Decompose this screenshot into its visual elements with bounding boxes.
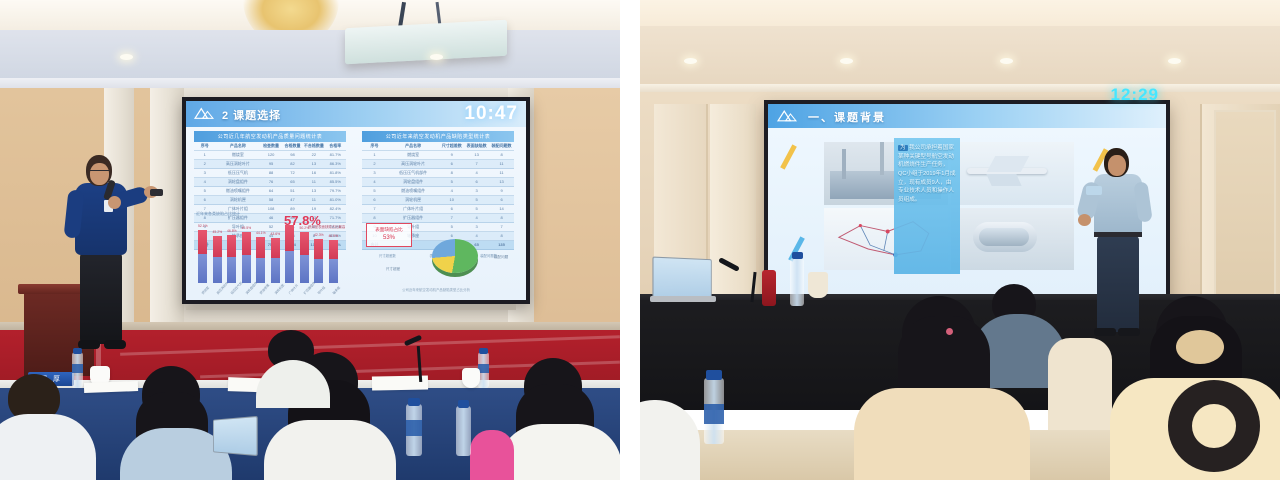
presenter-legs [1097,236,1139,332]
table-cell: 5 [439,178,464,186]
table-cell: 11 [489,160,514,168]
bottle-cap-2 [706,370,722,380]
bar-value-label: 49.5% [242,226,252,230]
bar-segment-upper [213,236,222,257]
teacup-2 [462,368,480,388]
accent-bar [780,144,797,169]
bar [242,232,251,283]
table-cell: 7 [439,214,464,222]
table-cell: 85.5% [325,178,346,186]
bar [213,236,222,283]
table-cell: 81.7% [325,151,346,159]
th: 序号 [194,142,215,150]
table-cell: 16 [303,169,324,177]
projection-screen-frame: 2 课题选择 10:47 公司近几年航空发动机产品质量问题统计表 序号 产品名称… [182,97,530,304]
bar-value-label: 45.2% [213,230,223,234]
bottle-cap-2 [479,348,488,354]
table-cell: 4 [362,178,387,186]
table-cell: 9 [489,187,514,195]
pie-callout-title: 表面缺陷占比 [369,227,409,234]
audience-shoulders-4 [640,400,700,480]
bar-segment-upper [329,240,338,259]
presenter-hand [1078,214,1091,226]
table-cell: 51 [282,187,303,195]
table-row: 2高压涡轮叶片95821386.3% [194,160,346,169]
table-cell: 89 [282,205,303,213]
table-cell: 扩压器组件 [387,214,439,222]
table-cell: 高压涡轮叶片 [387,160,439,168]
pie-label-right: 装配问题 [484,255,518,260]
th: 检查数量 [260,142,281,150]
downlight-icon [430,54,443,60]
presenter-shoe-left [1094,328,1116,336]
presenter-shoe-right [1118,328,1140,336]
ceiling-band [0,30,620,82]
bar-category-label: 燃油喷嘴 [258,283,270,296]
slide-timer: 12:29 [1111,85,1159,105]
bar-segment-lower [256,258,265,283]
bar-category-label: 广体叶片 [287,283,299,296]
table-cell: 8 [489,214,514,222]
table-cell: 6 [464,178,489,186]
table-left-header-row: 序号 产品名称 检查数量 合格数量 不合格数量 合格率 [194,142,346,151]
pie-label-right-text: 装配问题 [494,255,508,259]
bar-segment-upper [300,232,309,255]
table-right-caption: 公司近年来航空发动机产品缺陷类型统计表 [362,131,514,142]
downlight-icon [840,58,853,64]
glasses-icon [90,170,109,176]
table-cell: 11 [303,196,324,204]
table-cell: 涡轮盘组件 [215,178,260,186]
mountain-logo [776,109,798,123]
projection-screen: 2 课题选择 10:47 公司近几年航空发动机产品质量问题统计表 序号 产品名称… [186,101,526,300]
bar [227,235,236,283]
downlight-icon [120,54,133,60]
downlight-icon [1168,58,1181,64]
table-cell: 涡轮机匣 [387,196,439,204]
bottle-cap-4 [458,400,469,408]
presenter-belt [1094,232,1142,237]
table-cell: 14 [489,205,514,213]
laptop-base [650,296,716,302]
table-cell: 19 [303,205,324,213]
table-row: 8扩压器组件748 [362,214,514,223]
pie-callout: 表面缺陷占比 53% [366,223,412,247]
water-bottle [790,258,804,306]
table-cell: 76 [260,178,281,186]
water-bottle-4 [456,406,471,456]
downlight-icon [684,58,697,64]
bar-segment-lower [314,259,323,283]
table-cell: 98 [282,151,303,159]
bar-value-label: 43.6% [271,232,281,236]
bottle-cap [73,348,82,354]
table-cell: 1 [362,151,387,159]
th: 产品名称 [387,142,439,150]
bottle-cap [792,252,803,259]
table-cell: 低压压气机 [215,169,260,177]
th: 合格率 [325,142,346,150]
table-cell: 4 [464,232,489,240]
shirt-graphic-inner [1192,404,1236,448]
audience-shoulders-2 [854,388,1030,480]
coffee-cup [808,272,828,298]
table-cell: 2 [362,160,387,168]
presenter-hand-left [108,196,121,209]
table-row: 5燃油喷嘴组件439 [362,187,514,196]
table-cell: 6 [489,196,514,204]
bar-category-label: 导叶组 [316,285,326,295]
table-row: 7广体叶片组6514 [362,205,514,214]
bar-value-label: 42.3% [314,233,324,237]
bar-segment-lower [271,258,280,283]
table-cell: 58 [260,196,281,204]
th: 不合格数量 [303,142,324,150]
bar-segment-upper [285,225,294,251]
table-cell: 86.3% [325,160,346,168]
table-cell: 81.8% [325,169,346,177]
table-cell: 22 [303,151,324,159]
table-cell: 5 [194,187,215,195]
legend-item: 尺寸超差数 [379,253,396,258]
th: 合格数量 [282,142,303,150]
table-row: 6涡轮机匣58471181.0% [194,196,346,205]
downlight-icon [1000,58,1013,64]
table-row: 2高压涡轮叶片6711 [362,160,514,169]
laptop [213,416,258,456]
bar-segment-lower [300,255,309,283]
th: 表面缺陷数 [464,142,489,150]
slide-body-text: 我公司承担着国家某种关键型号航空发动机燃烧件生产任务，QC小组于2019年1月成… [898,145,956,203]
pie-label-left-text: 尺寸超差 [386,267,400,271]
table-cell: 7 [489,223,514,231]
thermos [762,270,776,306]
table-cell: 72 [282,169,303,177]
bar [314,239,323,283]
table-cell: 涡轮机匣 [215,196,260,204]
table-cell: 8 [489,232,514,240]
audience-shoulders-5 [498,424,620,480]
bar-segment-upper [256,237,265,258]
bar [285,225,294,283]
bar [329,240,338,283]
th: 产品名称 [215,142,260,150]
table-cell: 82 [282,160,303,168]
table-cell: 47 [282,196,303,204]
table-row: 3低压压气机部件8411 [362,169,514,178]
presenter-shoe-right [104,340,126,349]
engine-photo [951,208,1075,271]
pie-callout-value: 53% [369,234,409,243]
table-cell: 1 [194,151,215,159]
slide-title: 2 课题选择 [222,107,281,123]
table-cell: 8 [362,214,387,222]
table-cell: 2 [194,160,215,168]
table-cell: 4 [194,178,215,186]
table-cell: 11 [303,178,324,186]
table-cell: 6 [439,160,464,168]
bar-segment-upper [314,239,323,259]
bar-value-label: 44.1% [256,231,266,235]
left-conference-photo: 2 课题选择 10:47 公司近几年航空发动机产品质量问题统计表 序号 产品名称… [0,0,620,480]
table-cell: 4 [439,187,464,195]
table-cell: 4 [464,169,489,177]
bar-category-label: 燃烧室 [200,285,210,295]
bar [198,230,207,283]
table-cell: 3 [194,169,215,177]
photo-pair-container: 2 课题选择 10:47 公司近几年航空发动机产品质量问题统计表 序号 产品名称… [0,0,1280,480]
slide-title: 一、课题背景 [808,109,886,125]
table-cell: 6 [362,196,387,204]
bar [271,238,280,283]
table-cell: 广体叶片组 [387,205,439,213]
table-cell: 5 [439,223,464,231]
table-cell: 5 [464,196,489,204]
slide-body: 公司近几年航空发动机产品质量问题统计表 序号 产品名称 检查数量 合格数量 不合… [186,127,526,300]
bottle-cap-3 [408,398,420,406]
bar-category-label: 轴承座 [331,285,341,295]
bar [256,237,265,283]
mountain-logo [193,106,215,121]
table-cell: 涡轮盘组件 [387,178,439,186]
audience-shoulders-3 [264,420,396,480]
audience-shoulders-6 [470,430,514,480]
bottle-label-2 [704,404,724,424]
table-cell: 6 [439,205,464,213]
bottle-label [72,364,83,373]
table-cell: 108 [260,205,281,213]
bar-segment-upper [227,235,236,257]
slide-timer: 10:47 [464,103,518,125]
table-cell: 81.0% [325,196,346,204]
table-row: 1燃烧室120982281.7% [194,151,346,160]
table-cell: 3 [464,223,489,231]
table-cell: 13 [303,160,324,168]
bar-chart-highlight-note: 燃烧室表面缺陷占比最高 [308,225,348,229]
table-cell: 燃烧室 [215,151,260,159]
table-cell: 燃烧室 [387,151,439,159]
table-row: 6涡轮机匣1056 [362,196,514,205]
bar-segment-lower [285,251,294,283]
aircraft-photo [951,142,1075,205]
ceiling-band [640,26,1280,88]
chair-back [1048,338,1112,438]
table-cell: 5 [362,187,387,195]
bar-chart: 52.1%燃烧室45.2%高压涡轮叶片46.8%低压压气机49.5%涡轮盘组件4… [194,219,346,297]
bar-segment-lower [242,255,251,283]
table-cell: 3 [464,187,489,195]
table-cell: 13 [489,178,514,186]
table-cell: 11 [489,169,514,177]
th: 装配问题数 [489,142,514,150]
table-cell: 13 [464,151,489,159]
carpet-seam [120,335,620,355]
hair-tie [946,328,953,335]
presenter-legs [80,252,122,344]
table-cell: 4 [464,214,489,222]
bar-segment-upper [271,238,280,258]
table-cell: 3 [362,169,387,177]
table-left-caption: 公司近几年航空发动机产品质量问题统计表 [194,131,346,142]
table-row: 3低压压气机88721681.8% [194,169,346,178]
bottle-label-3 [406,420,422,436]
table-row: 5燃油喷嘴组件64511379.7% [194,187,346,196]
bar-value-label: 52.1% [198,224,208,228]
bar-value-label: 40.9% [329,234,339,238]
table-cell: 5 [464,205,489,213]
table-cell: 燃油喷嘴组件 [215,187,260,195]
table-cell: 64 [260,187,281,195]
table-row: 4涡轮盘组件5613 [362,178,514,187]
table-cell: 135 [489,241,514,249]
bar-value-label: 46.8% [227,229,237,233]
photo-gutter [620,0,640,480]
bar-category-label: 涡轮机匣 [273,283,285,296]
bar-segment-lower [227,257,236,283]
table-right-header-row: 序号 产品名称 尺寸超差数 表面缺陷数 装配问题数 [362,142,514,151]
bar-chart-section-label: 近年来各类缺陷占比统计 [196,211,240,217]
microphone-icon [1086,186,1102,195]
table-cell: 79.7% [325,187,346,195]
table-cell: 8 [489,151,514,159]
hair-clip [1176,330,1224,364]
laptop [652,257,711,302]
table-row: 1燃烧室9138 [362,151,514,160]
bar-segment-upper [242,232,251,255]
table-cell: 6 [194,196,215,204]
pie-chart-caption: 公司近年来航空发动机产品缺陷类型占比分析 [356,287,516,292]
bullet-marker: 为 [898,145,908,151]
table-cell: 8 [439,169,464,177]
pie-label-left: 尺寸超差 [376,267,410,272]
pie-chart [432,239,478,273]
papers [84,381,138,393]
table-cell: 7 [464,160,489,168]
th: 序号 [362,142,387,150]
table-cell: 13 [303,187,324,195]
bar [300,232,309,283]
table-cell: 7 [362,205,387,213]
table-cell: 82.4% [325,205,346,213]
table-cell: 燃油喷嘴组件 [387,187,439,195]
bar-segment-upper [198,230,207,254]
table-cell: 高压涡轮叶片 [215,160,260,168]
table-cell: 10 [439,196,464,204]
left-slide: 2 课题选择 10:47 公司近几年航空发动机产品质量问题统计表 序号 产品名称… [186,101,526,300]
table-cell: 65 [282,178,303,186]
table-cell: 88 [260,169,281,177]
table-cell: 120 [260,151,281,159]
presenter-face [1108,155,1126,176]
bar-segment-lower [213,257,222,283]
presenter-torso [1094,174,1142,236]
right-conference-photo: 一、课题背景 [640,0,1280,480]
slide-text-block: 为 我公司承担着国家某种关键型号航空发动机燃烧件生产任务，QC小组于2019年1… [894,138,960,274]
bar-segment-lower [198,254,207,283]
bar-segment-lower [329,259,338,283]
table-cell: 9 [439,151,464,159]
table-row: 4涡轮盘组件76651185.5% [194,178,346,187]
table-cell: 低压压气机部件 [387,169,439,177]
th: 尺寸超差数 [439,142,464,150]
clicker-icon [150,189,163,196]
table-cell: 95 [260,160,281,168]
